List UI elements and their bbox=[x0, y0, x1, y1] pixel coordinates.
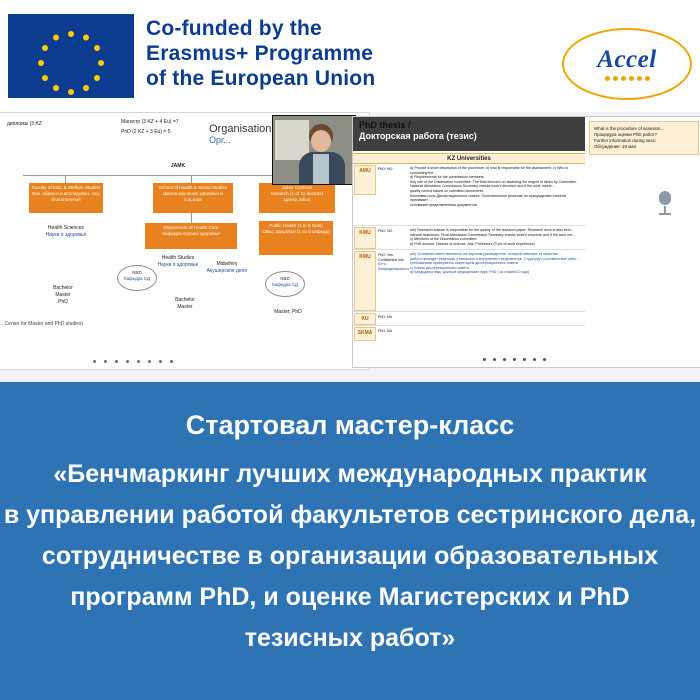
org-box-julius: Julius Centrumresearch (1 of 11 doctors)… bbox=[259, 183, 335, 213]
table-divider-1 bbox=[353, 225, 585, 226]
org-footer-note: ... Center for Master and PhD studies) bbox=[0, 321, 139, 328]
slide-right-pagination-dots[interactable] bbox=[483, 358, 546, 361]
presentation-collage: дипломы (3 KZ Магистр (3 KZ + 4 Eu) =7 P… bbox=[0, 112, 700, 382]
eu-stars-icon bbox=[8, 14, 134, 98]
erasmus-line-3: of the European Union bbox=[146, 66, 546, 91]
microphone-icon bbox=[657, 191, 673, 215]
org-node-degrees-3: Master, PhD bbox=[255, 309, 321, 316]
org-connector-d bbox=[191, 213, 192, 223]
org-box-faculty: Faculty of Edu. & Welfare StudiesФак. об… bbox=[29, 183, 103, 213]
cell-text-kmu-2: a/b) Основная ответственность на научном… bbox=[410, 252, 582, 275]
cell-status-kmu-2: PhD: Yes. Confidential info Есть. Конфид… bbox=[378, 253, 410, 271]
row-label-kmu-1: KMU bbox=[354, 227, 376, 249]
slide-label-jamk: JAMK bbox=[143, 163, 213, 170]
row-label-amu: AMU bbox=[354, 165, 376, 195]
org-node-degrees-1: BachelorMasterPhD bbox=[35, 285, 91, 306]
caption-line-4: программ PhD, и оценке Магистерских и Ph… bbox=[0, 577, 700, 618]
org-connector-b bbox=[191, 175, 192, 183]
table-divider-3 bbox=[353, 311, 585, 312]
org-node-degrees-2: BachelorMaster bbox=[157, 297, 213, 311]
row-label-kmu-2: KMU bbox=[354, 251, 376, 311]
eu-flag-logo bbox=[8, 14, 134, 98]
slide-subtitle-organisation: Орг... bbox=[209, 135, 271, 145]
org-node-health-sciences: Health SciencesНауки о здоровье bbox=[23, 225, 109, 239]
org-node-health-studies: Health StudiesНауки о здоровье bbox=[153, 255, 203, 269]
webcam-person-shirt bbox=[313, 154, 329, 185]
org-box-school: School of Health & Social StudiesШкола и… bbox=[153, 183, 233, 213]
org-connector-a bbox=[65, 175, 66, 183]
webcam-person-head bbox=[311, 130, 331, 152]
table-divider-2 bbox=[353, 249, 585, 250]
caption-body: «Бенчмаркинг лучших международных практи… bbox=[0, 454, 700, 659]
caption-line-2: в управлении работой факультетов сестрин… bbox=[0, 495, 700, 536]
caption-panel: Стартовал мастер-класс «Бенчмаркинг лучш… bbox=[0, 382, 700, 700]
org-box-dept-healthcare: Department of Health CareКафедра охраны … bbox=[145, 223, 237, 249]
table-divider-4 bbox=[353, 325, 585, 326]
row-label-ku: KU bbox=[354, 313, 376, 325]
caption-line-5: тезисных работ» bbox=[0, 618, 700, 659]
note-assessment-procedure: What is the procedure of assessm... Проц… bbox=[589, 121, 699, 155]
erasmus-line-2: Erasmus+ Programme bbox=[146, 41, 546, 66]
accel-logo: Accel bbox=[562, 28, 692, 100]
cell-status-skma: PhD: NA bbox=[378, 329, 408, 334]
cell-status-amu: PhD: NO bbox=[378, 167, 408, 172]
caption-line-3: сотрудничестве в организации образовател… bbox=[0, 536, 700, 577]
cell-text-amu: a) Provide a short description of the pr… bbox=[410, 166, 582, 207]
accel-logo-text: Accel bbox=[597, 47, 656, 73]
slide-title-phd-thesis: PhD thesis / Докторская работа (тезис) bbox=[359, 120, 579, 142]
webcam-tile[interactable] bbox=[272, 115, 356, 185]
org-node-midwifery: MidwiferyАкушерское дело bbox=[199, 261, 255, 275]
slide-note-3kz: дипломы (3 KZ bbox=[7, 121, 127, 128]
row-label-skma: SKMA bbox=[354, 327, 376, 341]
erasmus-wordmark: Co-funded by the Erasmus+ Programme of t… bbox=[146, 16, 546, 91]
cell-text-kmu-1: a/b) Research advisor is responsible for… bbox=[410, 228, 582, 246]
table-header-kz-universities: KZ Universities bbox=[353, 153, 585, 164]
caption-line-1: «Бенчмаркинг лучших международных практи… bbox=[0, 454, 700, 495]
caption-headline: Стартовал мастер-класс bbox=[0, 408, 700, 442]
slide-pagination-dots[interactable] bbox=[93, 360, 173, 363]
slide-title-organisation: Organisation Орг... bbox=[209, 123, 271, 145]
accel-logo-dots-icon bbox=[605, 76, 650, 81]
header-band: Co-funded by the Erasmus+ Programme of t… bbox=[0, 0, 700, 112]
org-ellipse-nsd-2: NSDКафедра СД bbox=[265, 271, 305, 297]
slide-phd-thesis-table[interactable]: PhD thesis / Докторская работа (тезис) K… bbox=[352, 116, 700, 368]
org-box-public-health: Public Health (1 to 6 Dpts)ОВщ. Здоровье… bbox=[259, 221, 333, 255]
cell-status-ku: PhD: NA bbox=[378, 315, 408, 320]
erasmus-line-1: Co-funded by the bbox=[146, 16, 546, 41]
cell-status-kmu-1: PhD: NO bbox=[378, 229, 408, 234]
org-ellipse-nsd-1: NSDКафедра СД bbox=[117, 265, 157, 291]
